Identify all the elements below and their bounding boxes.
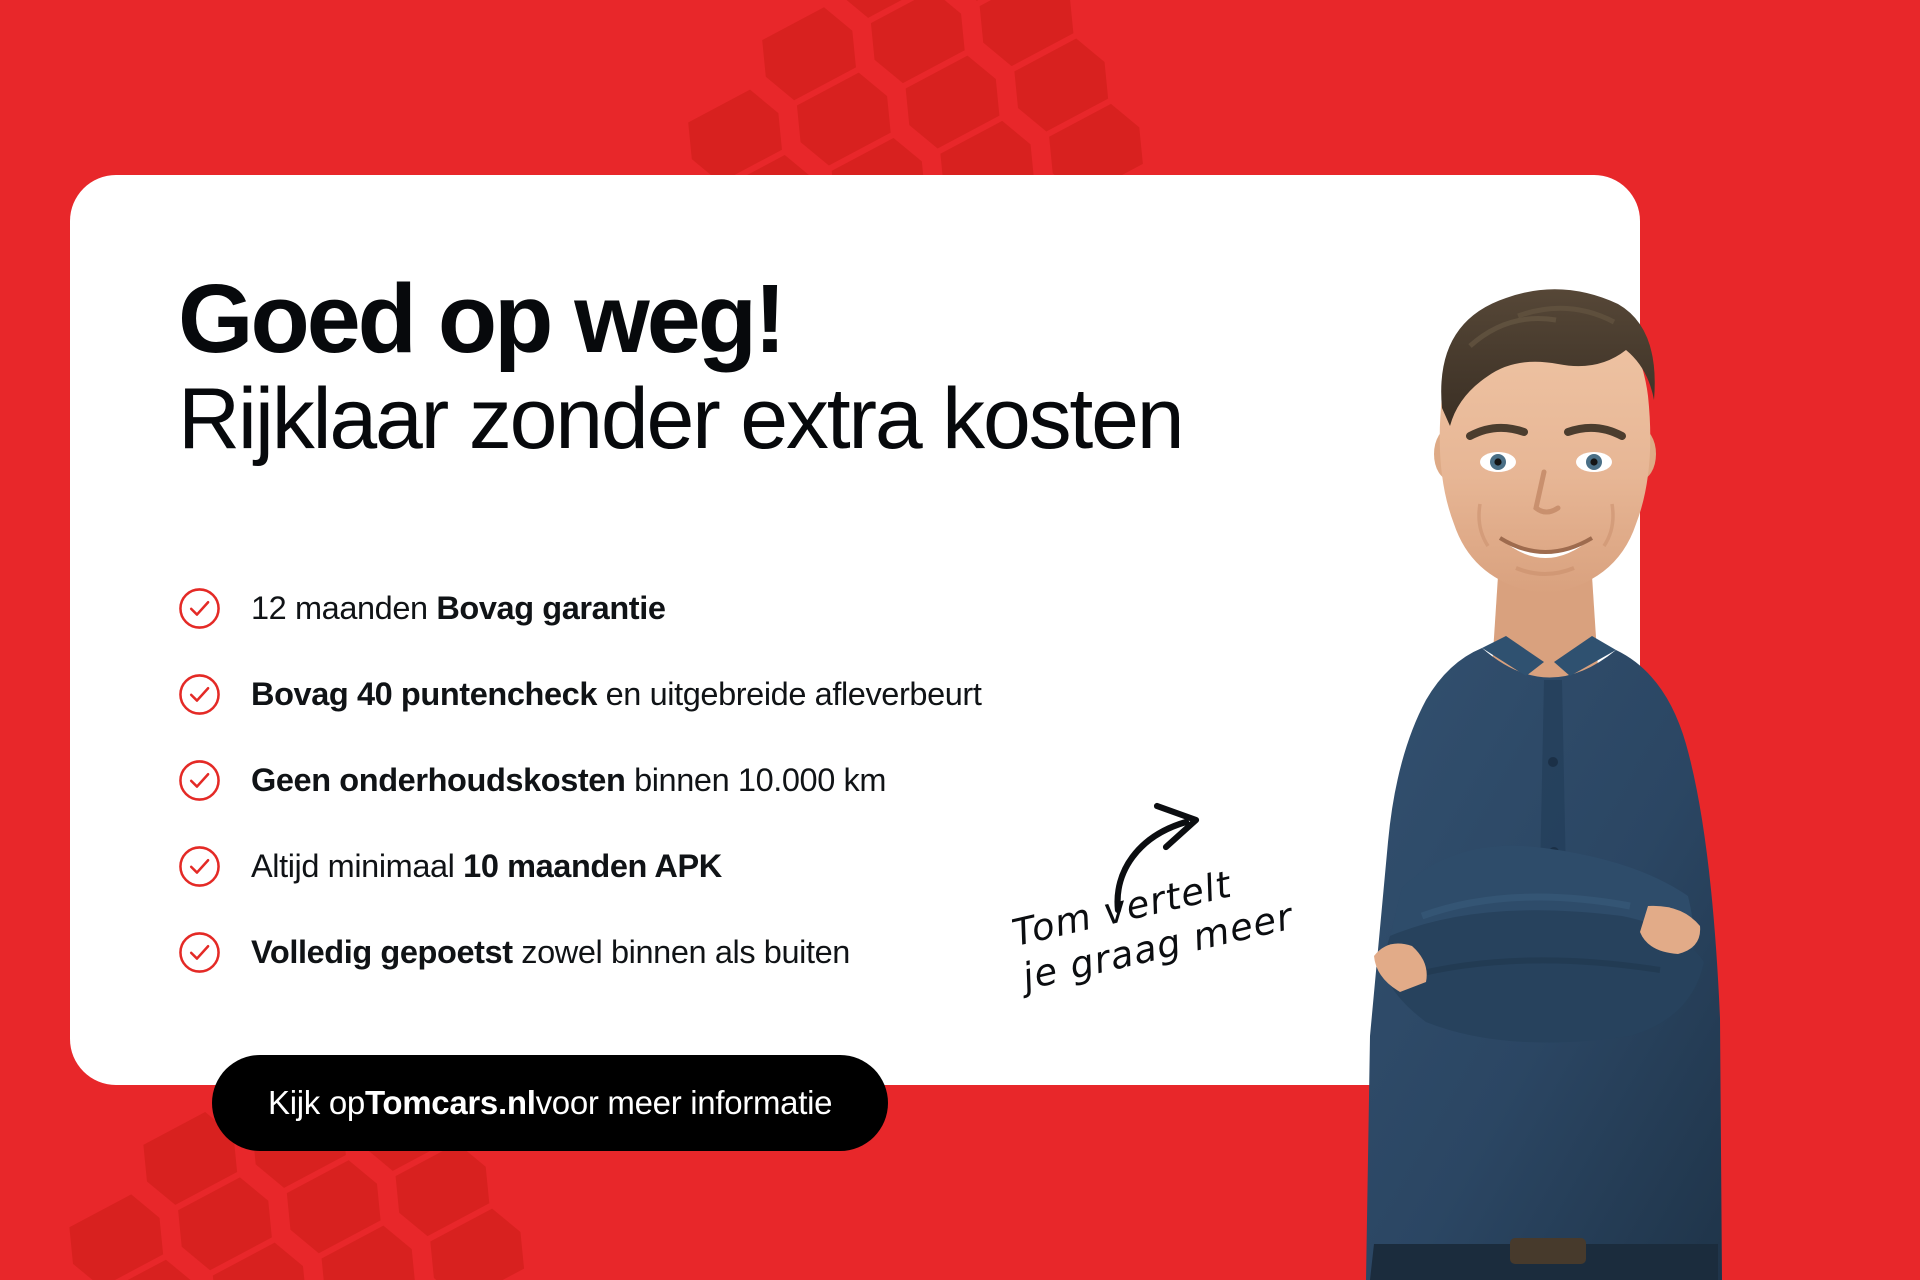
list-item: 12 maanden Bovag garantie — [178, 565, 1188, 651]
list-item: Altijd minimaal 10 maanden APK — [178, 823, 1188, 909]
list-item: Bovag 40 puntencheck en uitgebreide afle… — [178, 651, 1188, 737]
page-subtitle: Rijklaar zonder extra kosten — [178, 367, 1478, 467]
check-circle-icon — [178, 845, 221, 888]
cta-button[interactable]: Kijk op Tomcars.nl voor meer informatie — [212, 1055, 888, 1151]
cta-brand: Tomcars.nl — [365, 1084, 536, 1122]
list-item-label: Bovag 40 puntencheck en uitgebreide afle… — [251, 676, 981, 713]
list-item-label: Volledig gepoetst zowel binnen als buite… — [251, 934, 850, 971]
cta-prefix: Kijk op — [268, 1084, 365, 1122]
heading-block: Goed op weg! Rijklaar zonder extra koste… — [178, 270, 1478, 467]
benefits-list: 12 maanden Bovag garantie Bovag 40 punte… — [178, 565, 1188, 995]
list-item: Volledig gepoetst zowel binnen als buite… — [178, 909, 1188, 995]
check-circle-icon — [178, 587, 221, 630]
list-item-label: 12 maanden Bovag garantie — [251, 590, 666, 627]
list-item-label: Altijd minimaal 10 maanden APK — [251, 848, 722, 885]
check-circle-icon — [178, 673, 221, 716]
page-title: Goed op weg! — [178, 270, 1478, 367]
list-item: Geen onderhoudskosten binnen 10.000 km — [178, 737, 1188, 823]
cta-suffix: voor meer informatie — [536, 1084, 833, 1122]
promo-banner: Goed op weg! Rijklaar zonder extra koste… — [0, 0, 1920, 1280]
check-circle-icon — [178, 931, 221, 974]
list-item-label: Geen onderhoudskosten binnen 10.000 km — [251, 762, 886, 799]
check-circle-icon — [178, 759, 221, 802]
